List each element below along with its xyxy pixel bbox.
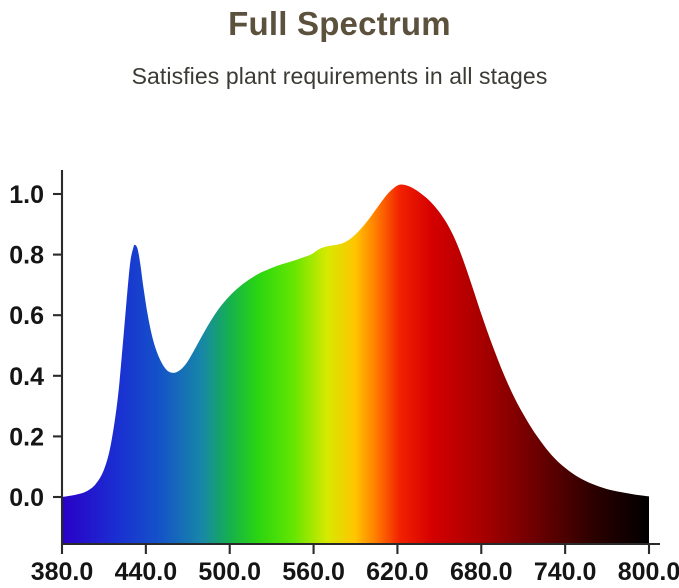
x-tick-label: 440.0 (115, 558, 178, 586)
x-tick-label: 800.0 (618, 558, 679, 586)
y-tick-label: 0.2 (9, 423, 44, 451)
x-tick-label: 380.0 (31, 558, 94, 586)
y-tick-label: 1.0 (9, 181, 44, 209)
x-tick-label: 500.0 (198, 558, 261, 586)
spectrum-plot-svg: 0.00.20.40.60.81.0 380.0440.0500.0560.06… (0, 0, 679, 588)
spectral-power-area (62, 185, 649, 544)
y-axis-tick-labels: 0.00.20.40.60.81.0 (9, 181, 44, 512)
x-tick-label: 560.0 (282, 558, 345, 586)
x-axis-ticks (62, 544, 649, 554)
spectrum-chart: 0.00.20.40.60.81.0 380.0440.0500.0560.06… (0, 0, 679, 588)
y-tick-label: 0.6 (9, 302, 44, 330)
y-tick-label: 0.8 (9, 242, 44, 270)
chart-page: Full Spectrum Satisfies plant requiremen… (0, 0, 679, 588)
x-tick-label: 680.0 (450, 558, 513, 586)
y-tick-label: 0.4 (9, 363, 44, 391)
x-axis-tick-labels: 380.0440.0500.0560.0620.0680.0740.0800.0 (31, 558, 679, 586)
x-tick-label: 740.0 (534, 558, 597, 586)
y-tick-label: 0.0 (9, 484, 44, 512)
x-tick-label: 620.0 (366, 558, 429, 586)
y-axis-ticks (53, 194, 62, 497)
